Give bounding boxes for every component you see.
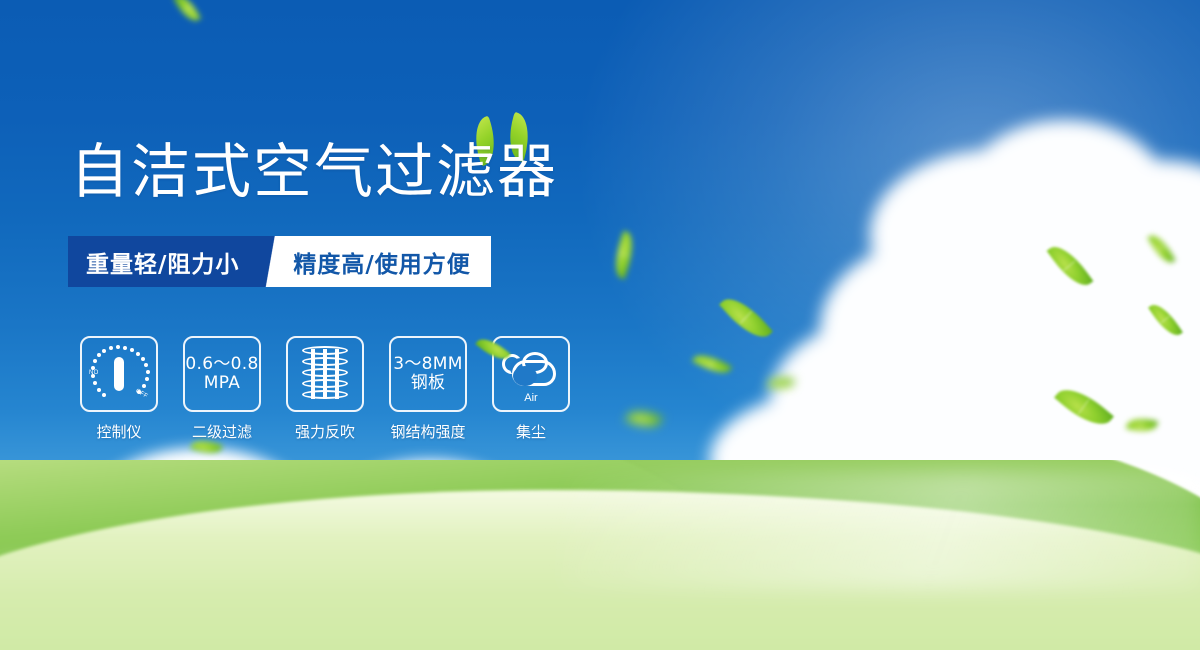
feature-icon-box: Air [492, 336, 570, 412]
gauge-dial-icon: NO OFF [89, 345, 149, 403]
grass-field [0, 460, 1200, 650]
feature-list: NO OFF 控制仪 0.6～0.8 MPA 二级过滤 [80, 336, 570, 442]
air-label: Air [500, 392, 562, 404]
filter-coil-icon [302, 346, 348, 402]
feature-item-filtration[interactable]: 0.6～0.8 MPA 二级过滤 [183, 336, 261, 442]
subtitle-divider-slash [259, 236, 285, 287]
feature-label: 二级过滤 [192, 421, 252, 442]
feature-icon-box [286, 336, 364, 412]
subtitle-left-segment: 重量轻/阻力小 [68, 236, 259, 287]
hero-banner: 自洁式空气过滤器 重量轻/阻力小 精度高/使用方便 [0, 0, 1200, 650]
feature-item-steel[interactable]: 3～8MM 钢板 钢结构强度 [389, 336, 467, 442]
pressure-value: 0.6～0.8 [185, 355, 258, 374]
feature-item-dust[interactable]: Air 集尘 [492, 336, 570, 442]
subtitle-bar: 重量轻/阻力小 精度高/使用方便 [68, 236, 491, 287]
feature-icon-box: 3～8MM 钢板 [389, 336, 467, 412]
gauge-label-no: NO [89, 370, 99, 376]
grass-highlight [560, 470, 1200, 590]
feature-item-backblow[interactable]: 强力反吹 [286, 336, 364, 442]
steel-material: 钢板 [393, 374, 462, 393]
subtitle-right-segment: 精度高/使用方便 [285, 236, 490, 287]
feature-icon-box: 0.6～0.8 MPA [183, 336, 261, 412]
feature-label: 强力反吹 [295, 421, 355, 442]
steel-plate-text-icon: 3～8MM 钢板 [393, 355, 462, 393]
pressure-unit: MPA [185, 374, 258, 393]
feature-icon-box: NO OFF [80, 336, 158, 412]
gauge-label-off: OFF [134, 388, 148, 400]
gauge-needle [114, 357, 124, 391]
pressure-text-icon: 0.6～0.8 MPA [185, 355, 258, 393]
feature-label: 钢结构强度 [390, 421, 465, 442]
steel-thickness: 3～8MM [393, 355, 462, 374]
feature-label: 控制仪 [96, 421, 141, 442]
page-title: 自洁式空气过滤器 [70, 141, 558, 202]
feature-label: 集尘 [516, 421, 546, 442]
feature-item-control[interactable]: NO OFF 控制仪 [80, 336, 158, 442]
